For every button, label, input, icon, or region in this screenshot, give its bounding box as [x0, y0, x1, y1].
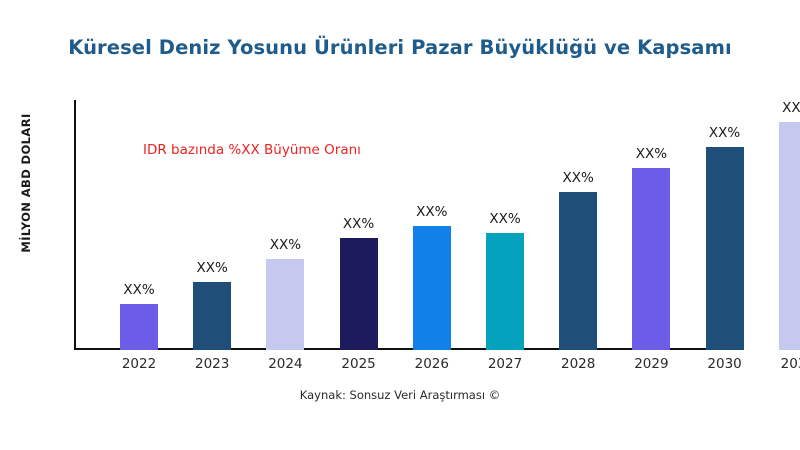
bar-2029[interactable] — [632, 168, 670, 350]
bar-value-label-2030: XX% — [690, 125, 760, 141]
x-tick-label-2026: 2026 — [397, 356, 467, 372]
bar-group-2029: XX% — [616, 100, 686, 350]
bar-group-2027: XX% — [470, 100, 540, 350]
bar-group-2028: XX% — [543, 100, 613, 350]
bar-2026[interactable] — [413, 226, 451, 350]
bar-2024[interactable] — [266, 259, 304, 350]
y-axis-title: MİLYON ABD DOLARI — [19, 83, 33, 283]
x-tick-label-2030: 2030 — [690, 356, 760, 372]
x-tick-label-2029: 2029 — [616, 356, 686, 372]
bar-group-2031: XX% — [763, 100, 800, 350]
bar-value-label-2027: XX% — [470, 211, 540, 227]
bar-value-label-2024: XX% — [250, 237, 320, 253]
bar-2022[interactable] — [120, 304, 158, 350]
chart-canvas: Küresel Deniz Yosunu Ürünleri Pazar Büyü… — [0, 0, 800, 450]
y-axis-line — [74, 100, 76, 350]
bar-2027[interactable] — [486, 233, 524, 350]
x-tick-label-2025: 2025 — [324, 356, 394, 372]
x-tick-label-2023: 2023 — [177, 356, 247, 372]
bar-group-2030: XX% — [690, 100, 760, 350]
bar-group-2026: XX% — [397, 100, 467, 350]
x-tick-label-2028: 2028 — [543, 356, 613, 372]
bar-value-label-2025: XX% — [324, 216, 394, 232]
x-tick-label-2027: 2027 — [470, 356, 540, 372]
page-title: Küresel Deniz Yosunu Ürünleri Pazar Büyü… — [0, 36, 800, 59]
plot-area: XX%XX%XX%XX%XX%XX%XX%XX%XX%XX% — [74, 100, 786, 350]
bar-2030[interactable] — [706, 147, 744, 350]
x-tick-label-2024: 2024 — [250, 356, 320, 372]
source-note: Kaynak: Sonsuz Veri Araştırması © — [0, 388, 800, 402]
bar-value-label-2026: XX% — [397, 204, 467, 220]
bar-value-label-2031: XX% — [763, 100, 800, 116]
x-tick-label-2031: 2031 — [763, 356, 800, 372]
bar-2028[interactable] — [559, 192, 597, 350]
bar-group-2025: XX% — [324, 100, 394, 350]
growth-rate-annotation: IDR bazında %XX Büyüme Oranı — [143, 142, 361, 158]
x-tick-label-2022: 2022 — [104, 356, 174, 372]
bar-group-2024: XX% — [250, 100, 320, 350]
bar-2031[interactable] — [779, 122, 800, 350]
bar-2023[interactable] — [193, 282, 231, 350]
bar-group-2023: XX% — [177, 100, 247, 350]
bar-group-2022: XX% — [104, 100, 174, 350]
bar-2025[interactable] — [340, 238, 378, 350]
bar-value-label-2023: XX% — [177, 260, 247, 276]
bar-value-label-2028: XX% — [543, 170, 613, 186]
bar-value-label-2022: XX% — [104, 282, 174, 298]
bar-value-label-2029: XX% — [616, 146, 686, 162]
